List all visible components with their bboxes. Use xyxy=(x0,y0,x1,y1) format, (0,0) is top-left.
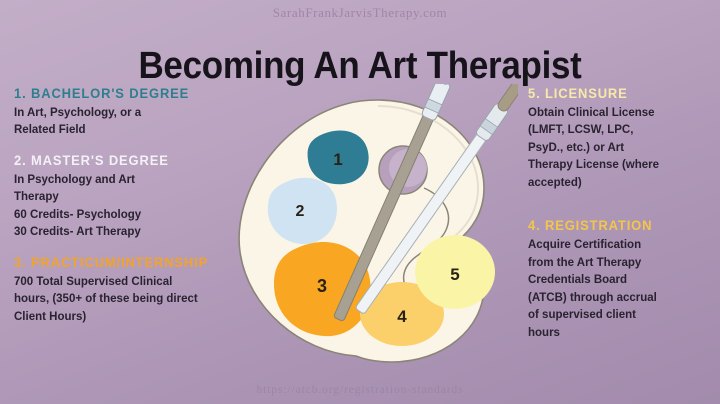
paint-blob-number: 5 xyxy=(450,265,459,284)
body-line: In Psychology and Art xyxy=(14,172,246,189)
paint-blob-teal: 1 xyxy=(308,130,369,184)
paint-blob-pale-yellow: 5 xyxy=(415,235,495,309)
body-line: Related Field xyxy=(14,122,246,139)
body-line: from the Art Therapy xyxy=(528,255,714,272)
step-heading-registration: 4. REGISTRATION xyxy=(528,218,707,233)
step-block-practicum: 3. PRACTICUM/INTERNSHIP 700 Total Superv… xyxy=(14,255,246,326)
paint-blob-number: 1 xyxy=(333,150,342,169)
body-line: (LMFT, LCSW, LPC, xyxy=(528,122,714,139)
step-body-masters: In Psychology and Art Therapy 60 Credits… xyxy=(14,172,246,242)
source-url: https://atcb.org/registration-standards xyxy=(0,384,720,396)
body-line: 700 Total Supervised Clinical xyxy=(14,274,246,291)
step-heading-masters: 2. MASTER'S DEGREE xyxy=(14,153,237,168)
body-line: hours, (350+ of these being direct xyxy=(14,291,246,308)
body-line: 30 Credits- Art Therapy xyxy=(14,224,246,241)
step-heading-bachelors: 1. BACHELOR'S DEGREE xyxy=(14,86,237,101)
artist-palette-illustration: 1 2 3 4 5 xyxy=(228,84,518,384)
page-title: Becoming An Art Therapist xyxy=(29,47,691,87)
site-watermark: SarahFrankJarvisTherapy.com xyxy=(0,5,720,21)
step-heading-licensure: 5. LICENSURE xyxy=(528,86,707,101)
paint-blob-number: 2 xyxy=(296,203,305,220)
step-block-bachelors: 1. BACHELOR'S DEGREE In Art, Psychology,… xyxy=(14,86,246,140)
step-body-bachelors: In Art, Psychology, or a Related Field xyxy=(14,105,246,140)
step-heading-practicum: 3. PRACTICUM/INTERNSHIP xyxy=(14,255,237,270)
right-column: 5. LICENSURE Obtain Clinical License (LM… xyxy=(528,86,714,355)
body-line: of supervised client xyxy=(528,307,714,324)
infographic-canvas: SarahFrankJarvisTherapy.com Becoming An … xyxy=(0,0,720,404)
paint-blob-number: 4 xyxy=(397,307,407,326)
step-block-registration: 4. REGISTRATION Acquire Certification fr… xyxy=(528,218,714,342)
body-line: In Art, Psychology, or a xyxy=(14,105,246,122)
step-body-registration: Acquire Certification from the Art Thera… xyxy=(528,237,714,342)
body-line: Credentials Board xyxy=(528,272,714,289)
body-line: Therapy xyxy=(14,189,246,206)
body-line: 60 Credits- Psychology xyxy=(14,207,246,224)
body-line: hours xyxy=(528,325,714,342)
step-block-licensure: 5. LICENSURE Obtain Clinical License (LM… xyxy=(528,86,714,192)
step-body-practicum: 700 Total Supervised Clinical hours, (35… xyxy=(14,274,246,326)
body-line: Client Hours) xyxy=(14,309,246,326)
body-line: (ATCB) through accrual xyxy=(528,290,714,307)
left-column: 1. BACHELOR'S DEGREE In Art, Psychology,… xyxy=(14,86,246,339)
body-line: Therapy License (where xyxy=(528,157,714,174)
paint-blob-number: 3 xyxy=(317,276,327,296)
body-line: accepted) xyxy=(528,175,714,192)
step-body-licensure: Obtain Clinical License (LMFT, LCSW, LPC… xyxy=(528,105,714,192)
body-line: Acquire Certification xyxy=(528,237,714,254)
body-line: Obtain Clinical License xyxy=(528,105,714,122)
step-block-masters: 2. MASTER'S DEGREE In Psychology and Art… xyxy=(14,153,246,242)
body-line: PsyD., etc.) or Art xyxy=(528,140,714,157)
